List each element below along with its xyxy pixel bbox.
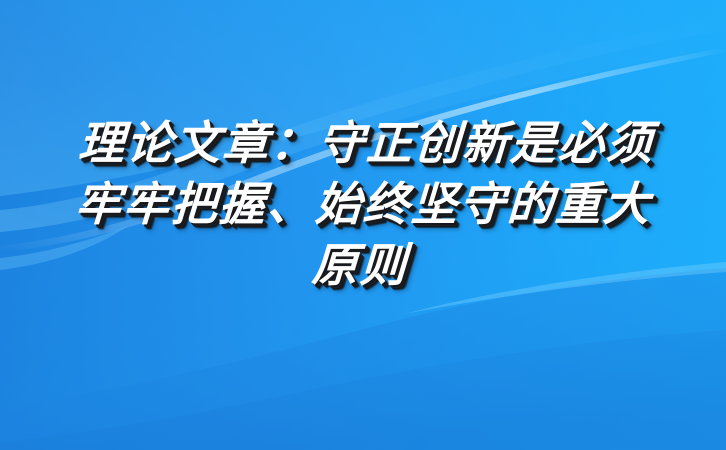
article-title-banner: 理论文章：守正创新是必须 牢牢把握、始终坚守的重大 原则 xyxy=(0,0,726,450)
title-container: 理论文章：守正创新是必须 牢牢把握、始终坚守的重大 原则 xyxy=(0,0,726,450)
page-title: 理论文章：守正创新是必须 牢牢把握、始终坚守的重大 原则 xyxy=(13,113,713,297)
